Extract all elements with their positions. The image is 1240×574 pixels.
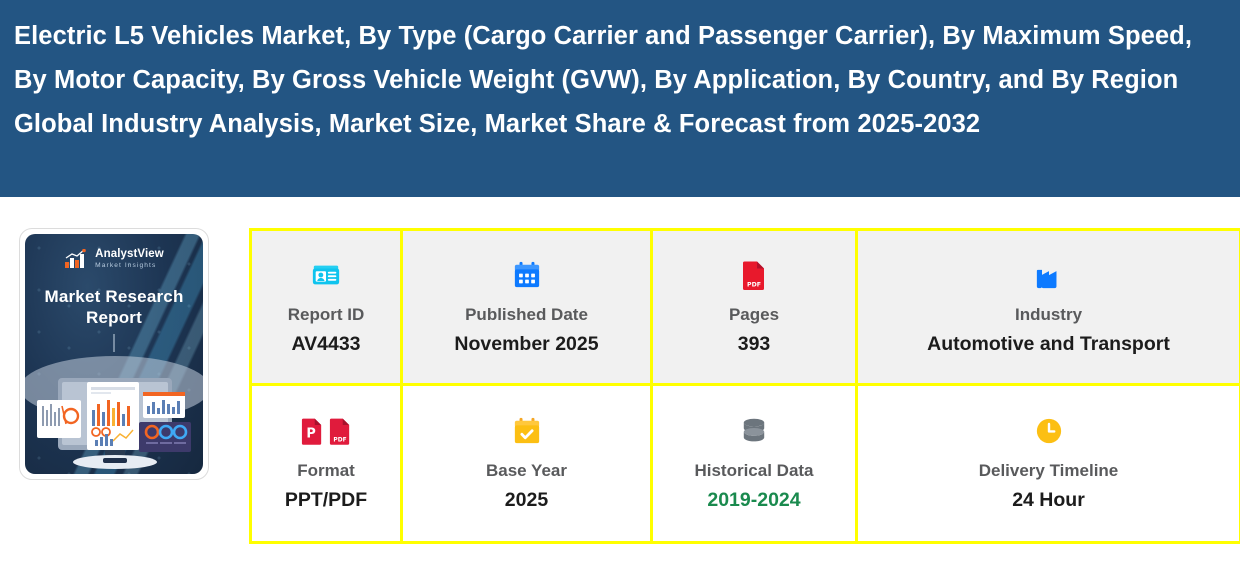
ppt-pdf-file-icon: P PDF bbox=[301, 415, 351, 447]
info-label: Format bbox=[297, 460, 355, 482]
info-label: Pages bbox=[729, 304, 779, 326]
info-label: Published Date bbox=[465, 304, 588, 326]
info-value: PPT/PDF bbox=[285, 488, 367, 512]
info-label: Historical Data bbox=[694, 460, 813, 482]
info-label: Industry bbox=[1015, 304, 1082, 326]
logo-name: AnalystView bbox=[95, 249, 164, 261]
info-label: Base Year bbox=[486, 460, 567, 482]
report-cover-thumbnail[interactable]: AnalystView Market Insights Market Resea… bbox=[19, 228, 209, 480]
info-value: 2019-2024 bbox=[707, 488, 800, 512]
info-cell-published-date: Published Date November 2025 bbox=[403, 231, 653, 386]
calendar-check-icon bbox=[513, 415, 541, 447]
svg-text:P: P bbox=[306, 426, 315, 441]
calendar-icon bbox=[513, 259, 541, 291]
info-cell-historical-data: Historical Data 2019-2024 bbox=[653, 386, 858, 541]
info-label: Report ID bbox=[288, 304, 365, 326]
pdf-file-icon: PDF bbox=[329, 417, 351, 445]
page-title: Electric L5 Vehicles Market, By Type (Ca… bbox=[14, 14, 1200, 146]
report-info-grid: Report ID AV4433 bbox=[249, 228, 1240, 544]
report-cover-artwork: AnalystView Market Insights Market Resea… bbox=[25, 234, 203, 474]
svg-text:PDF: PDF bbox=[333, 437, 346, 443]
info-cell-pages: PDF Pages 393 bbox=[653, 231, 858, 386]
database-icon bbox=[741, 415, 767, 447]
dashboard-illustration bbox=[25, 342, 203, 474]
id-card-icon bbox=[311, 259, 341, 291]
info-value: November 2025 bbox=[454, 332, 598, 356]
info-cell-industry: Industry Automotive and Transport bbox=[858, 231, 1239, 386]
info-label: Delivery Timeline bbox=[979, 460, 1119, 482]
info-cell-format: P PDF Format PPT/PDF bbox=[252, 386, 403, 541]
info-cell-base-year: Base Year 2025 bbox=[403, 386, 653, 541]
clock-icon bbox=[1035, 415, 1063, 447]
info-value: 24 Hour bbox=[1012, 488, 1085, 512]
report-summary-section: AnalystView Market Insights Market Resea… bbox=[0, 197, 1240, 544]
page-header: Electric L5 Vehicles Market, By Type (Ca… bbox=[0, 0, 1240, 197]
analystview-logo: AnalystView Market Insights bbox=[25, 249, 203, 269]
info-value: AV4433 bbox=[291, 332, 360, 356]
info-cell-report-id: Report ID AV4433 bbox=[252, 231, 403, 386]
info-value: 393 bbox=[738, 332, 771, 356]
svg-text:PDF: PDF bbox=[747, 281, 761, 288]
cover-title: Market Research Report bbox=[25, 286, 203, 328]
bar-chart-logo-icon bbox=[64, 249, 90, 269]
ppt-file-icon: P bbox=[301, 417, 323, 445]
logo-wordmark: AnalystView Market Insights bbox=[95, 249, 164, 269]
info-value: Automotive and Transport bbox=[927, 332, 1170, 356]
info-value: 2025 bbox=[505, 488, 548, 512]
logo-tagline: Market Insights bbox=[95, 263, 164, 270]
pdf-file-icon: PDF bbox=[742, 259, 766, 291]
info-cell-delivery-timeline: Delivery Timeline 24 Hour bbox=[858, 386, 1239, 541]
factory-icon bbox=[1035, 259, 1063, 291]
